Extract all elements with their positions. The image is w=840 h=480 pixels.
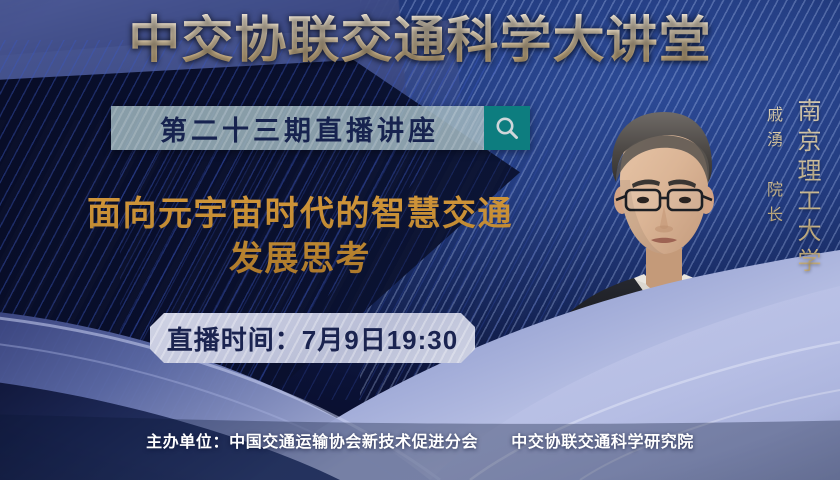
headline-line-1: 面向元宇宙时代的智慧交通	[40, 192, 560, 237]
organizers-footer: 主办单位：中国交通运输协会新技术促进分会 中交协联交通科学研究院	[0, 428, 840, 452]
session-bar-text-area: 第二十三期直播讲座	[111, 106, 484, 150]
speaker-name-title: 戚湧 院长	[760, 106, 784, 231]
main-title: 中交协联交通科学大讲堂	[0, 14, 840, 67]
broadcast-time-label: 直播时间：7月9日19:30	[167, 320, 458, 357]
search-icon[interactable]	[484, 106, 530, 150]
headline-line-2: 发展思考	[40, 237, 560, 282]
broadcast-time-plate: 直播时间：7月9日19:30	[150, 313, 475, 363]
session-bar: 第二十三期直播讲座	[111, 106, 530, 150]
lecture-headline: 面向元宇宙时代的智慧交通 发展思考	[40, 192, 560, 282]
speaker-organization: 南京理工大学	[789, 98, 824, 278]
session-label: 第二十三期直播讲座	[156, 109, 439, 148]
live-lecture-poster: 中交协联交通科学大讲堂 中交协联交通科学大讲堂 第二十三期直播讲座 面向元宇宙时…	[0, 0, 840, 480]
